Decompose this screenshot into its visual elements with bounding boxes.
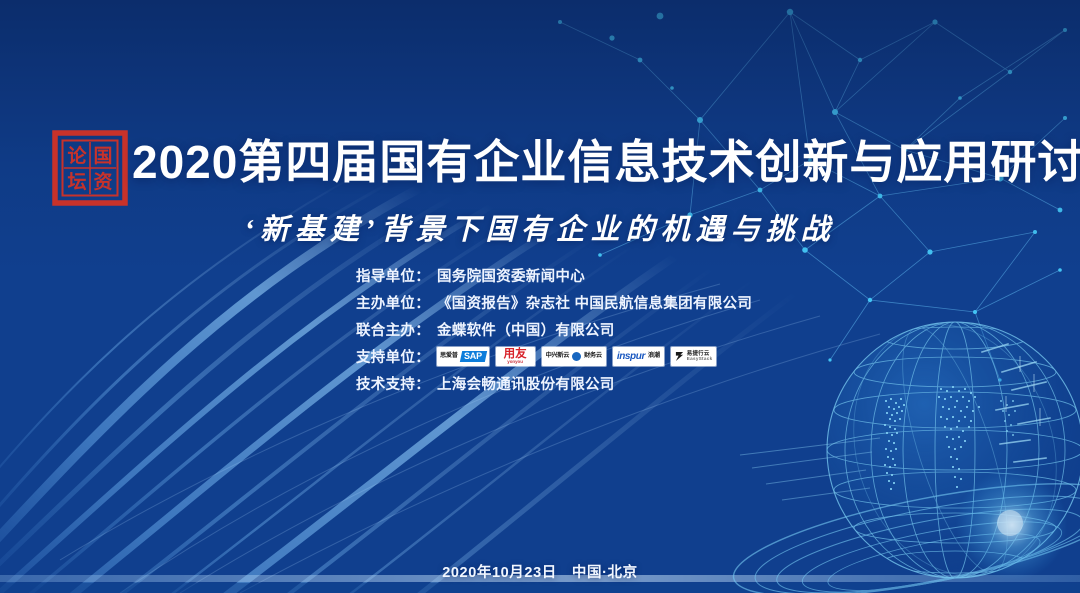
sponsor-caiwuyun-en: 财务云 <box>584 353 602 359</box>
info-value-tech-support: 上海会畅通讯股份有限公司 <box>437 373 615 394</box>
sponsor-inspur-en: inspur <box>617 352 645 362</box>
easystack-mark-icon <box>675 351 684 362</box>
sponsor-easystack-en: EasyStack <box>687 357 713 362</box>
organizer-info-block: 指导单位： 国务院国资委新闻中心 主办单位： 《国资报告》杂志社 中国民航信息集… <box>0 262 1080 397</box>
info-label-tech-support: 技术支持： <box>0 373 437 394</box>
banner-footer-datetime-location: 2020年10月23日 中国·北京 <box>0 561 1080 582</box>
info-row-tech-support: 技术支持： 上海会畅通讯股份有限公司 <box>0 370 1080 397</box>
sponsor-sap-cn: 思爱普 <box>440 353 458 359</box>
svg-text:坛: 坛 <box>67 171 86 193</box>
sponsor-logo-inspur: inspur 浪潮 <box>613 347 664 366</box>
banner-title: 2020第四届国有企业信息技术创新与应用研讨会 <box>132 132 1080 192</box>
sponsor-zhongxing-cn: 中兴新云 <box>546 353 570 359</box>
sponsor-logo-zhongxing-caiwuyun: 中兴新云 财务云 <box>542 347 606 366</box>
sponsor-logo-yonyou: 用友 yonyou <box>496 347 535 366</box>
svg-text:论: 论 <box>67 144 87 167</box>
info-value-host: 《国资报告》杂志社 中国民航信息集团有限公司 <box>437 292 752 313</box>
sponsor-logo-sap: 思爱普 SAP <box>437 347 489 366</box>
info-label-supporters: 支持单位： <box>0 346 437 367</box>
sponsor-yonyou-en: yonyou <box>507 360 523 364</box>
conference-banner: 国 资 论 坛 2020第四届国有企业信息技术创新与应用研讨会 ‘新基建’背景下… <box>0 0 1080 593</box>
banner-subtitle: ‘新基建’背景下国有企业的机遇与挑战 <box>0 206 1080 248</box>
sap-icon: SAP <box>460 351 487 362</box>
easystack-wordmark: 易捷行云 EasyStack <box>687 352 713 362</box>
info-row-host: 主办单位： 《国资报告》杂志社 中国民航信息集团有限公司 <box>0 289 1080 316</box>
svg-text:国: 国 <box>93 145 112 167</box>
info-row-cohost: 联合主办： 金蝶软件（中国）有限公司 <box>0 316 1080 343</box>
sponsor-logo-easystack: 易捷行云 EasyStack <box>671 347 717 366</box>
info-value-cohost: 金蝶软件（中国）有限公司 <box>437 319 615 340</box>
sponsor-sap-en: SAP <box>464 352 482 361</box>
sponsor-logo-strip: 思爱普 SAP 用友 yonyou 中兴新云 财务云 inspur <box>437 347 716 366</box>
info-label-guidance: 指导单位： <box>0 265 437 286</box>
info-label-host: 主办单位： <box>0 292 437 313</box>
info-label-cohost: 联合主办： <box>0 319 437 340</box>
guozi-forum-seal-icon: 国 资 论 坛 <box>52 130 128 206</box>
caiwuyun-mark-icon <box>572 352 581 361</box>
svg-text:资: 资 <box>93 170 112 193</box>
info-value-guidance: 国务院国资委新闻中心 <box>437 265 585 286</box>
sponsor-inspur-cn: 浪潮 <box>648 353 660 359</box>
info-row-guidance: 指导单位： 国务院国资委新闻中心 <box>0 262 1080 289</box>
info-row-supporters: 支持单位： 思爱普 SAP 用友 yonyou 中兴新云 财务云 <box>0 343 1080 370</box>
